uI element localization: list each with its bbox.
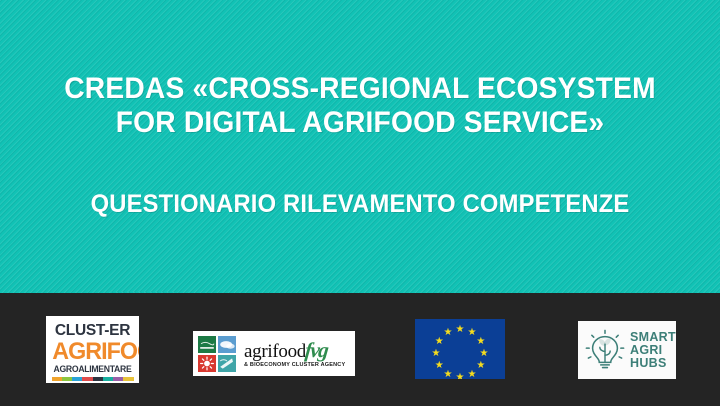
eu-star: ★	[456, 325, 465, 334]
sah-line-2: AGRI	[630, 344, 676, 357]
logo-clust-er-agrifood: CLUST-ER AGRIFOOD AGROALIMENTARE	[46, 316, 139, 383]
smart-agri-hubs-wordmark: SMART AGRI HUBS	[626, 331, 676, 370]
eu-star: ★	[444, 328, 453, 337]
clust-er-wordmark-mid: AGRIFOOD	[52, 339, 133, 364]
title-line-2: FOR DIGITAL AGRIFOOD SERVICE»	[22, 106, 699, 140]
page-title: CREDAS «CROSS-REGIONAL ECOSYSTEM FOR DIG…	[0, 72, 720, 140]
lightbulb-sprout-icon	[584, 328, 626, 372]
sah-line-3: HUBS	[630, 357, 676, 370]
eu-star: ★	[456, 373, 465, 379]
clust-er-wordmark-top: CLUST-ER	[52, 322, 133, 339]
agrifood-fvg-tile-grid	[198, 336, 236, 372]
eu-star: ★	[435, 337, 444, 346]
tile-field-icon	[198, 336, 216, 353]
agrifood-fvg-wordmark: agrifoodfvg & BIOECONOMY CLUSTER AGENCY	[236, 338, 350, 369]
eu-star: ★	[435, 361, 444, 370]
tile-wave-icon	[218, 355, 236, 372]
presentation-slide: CREDAS «CROSS-REGIONAL ECOSYSTEM FOR DIG…	[0, 0, 720, 406]
logo-smart-agri-hubs: SMART AGRI HUBS	[578, 321, 676, 379]
sah-line-1: SMART	[630, 331, 676, 344]
subtitle-line-1: QUESTIONARIO RILEVAMENTO COMPETENZE	[18, 190, 702, 219]
eu-star: ★	[480, 349, 489, 358]
clust-er-wordmark-bottom: AGROALIMENTARE	[53, 364, 133, 375]
eu-star: ★	[468, 328, 477, 337]
page-subtitle: QUESTIONARIO RILEVAMENTO COMPETENZE	[0, 190, 720, 219]
eu-star: ★	[468, 370, 477, 379]
eu-star: ★	[476, 361, 485, 370]
tile-cloud-icon	[218, 336, 236, 353]
fvg-script-word: fvg	[304, 338, 329, 363]
logo-european-union-flag: ★ ★ ★ ★ ★ ★ ★ ★ ★ ★ ★ ★	[415, 319, 505, 379]
agrifood-fvg-tagline: & BIOECONOMY CLUSTER AGENCY	[244, 362, 350, 369]
tile-sun-icon	[198, 355, 216, 372]
agrifood-word: agrifood	[244, 342, 306, 362]
logo-agrifood-fvg: agrifoodfvg & BIOECONOMY CLUSTER AGENCY	[193, 331, 355, 376]
eu-star: ★	[476, 337, 485, 346]
eu-star: ★	[432, 349, 441, 358]
hero-banner	[0, 0, 720, 293]
clust-er-color-strip	[52, 377, 134, 381]
eu-star: ★	[444, 370, 453, 379]
title-line-1: CREDAS «CROSS-REGIONAL ECOSYSTEM	[22, 72, 699, 106]
